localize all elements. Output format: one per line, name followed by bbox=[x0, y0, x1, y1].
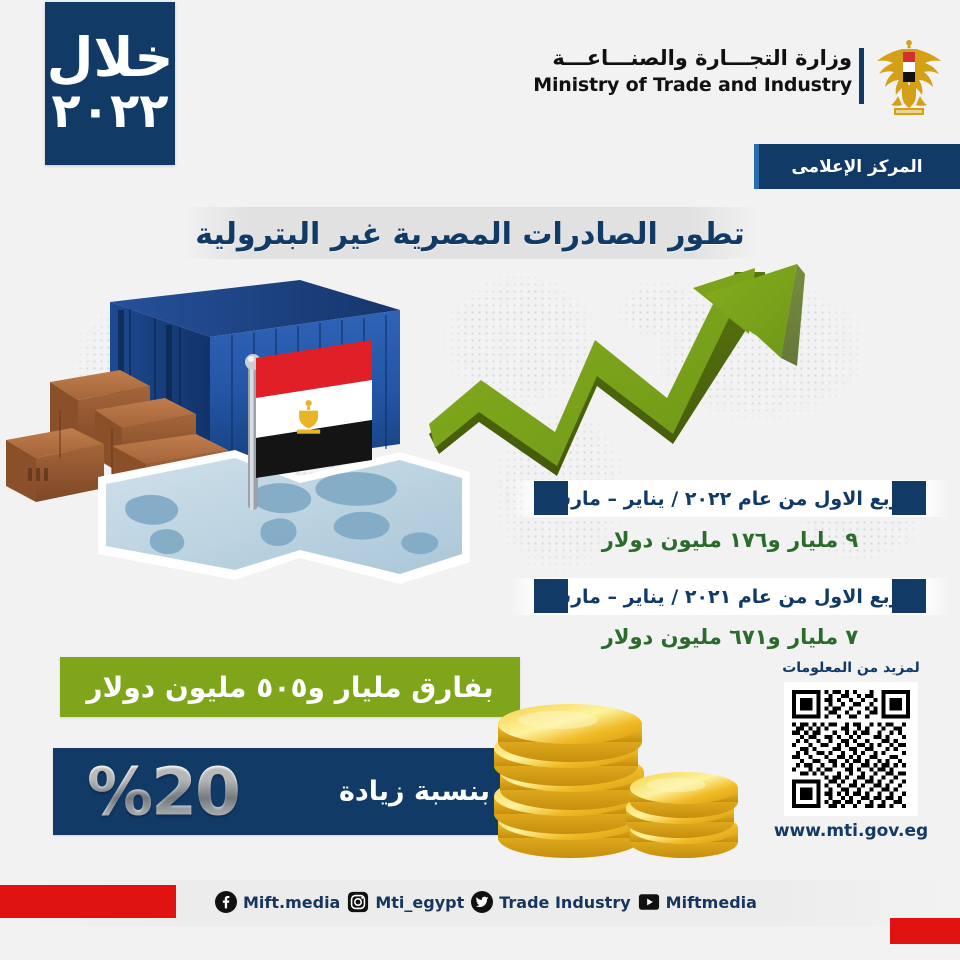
row-marker-right bbox=[892, 481, 926, 515]
youtube-icon bbox=[638, 891, 660, 913]
difference-bar: بفارق مليار و٥٠٥ مليون دولار bbox=[60, 657, 520, 717]
social-instagram-handle: Mti_egypt bbox=[375, 893, 464, 912]
egypt-eagle-emblem bbox=[872, 36, 946, 120]
social-instagram[interactable]: Mti_egypt bbox=[347, 891, 464, 913]
row-value: ٩ مليار و١٧٦ مليون دولار bbox=[510, 528, 950, 552]
gold-coins bbox=[478, 690, 740, 865]
year-badge: خلال ٢٠٢٢ bbox=[45, 2, 175, 165]
year-badge-line2: ٢٠٢٢ bbox=[51, 87, 168, 135]
social-twitter-handle: Trade Industry bbox=[499, 893, 630, 912]
table-row: الربع الاول من عام ٢٠٢٢ / يناير – مارس bbox=[510, 480, 950, 517]
row-period-label: الربع الاول من عام ٢٠٢٢ / يناير – مارس bbox=[510, 488, 950, 510]
qr-title: لمزيد من المعلومات bbox=[766, 660, 936, 676]
footer-red-accent-left bbox=[0, 885, 176, 918]
ministry-title-english: Ministry of Trade and Industry bbox=[533, 74, 852, 96]
header-divider bbox=[859, 48, 864, 104]
social-links: Mift.media Mti_egypt Trade Industry Mi bbox=[215, 888, 757, 916]
ministry-title-arabic: وزارة التجـــارة والصنـــاعـــة bbox=[533, 46, 852, 70]
export-illustration bbox=[0, 262, 470, 602]
social-youtube[interactable]: Miftmedia bbox=[638, 891, 757, 913]
social-facebook[interactable]: Mift.media bbox=[215, 891, 340, 913]
growth-percent-label: بنسبة زيادة bbox=[339, 776, 490, 807]
row-marker-right bbox=[892, 579, 926, 613]
qr-section: لمزيد من المعلومات bbox=[766, 660, 936, 865]
media-center-badge[interactable]: المركز الإعلامى bbox=[754, 144, 960, 189]
footer-red-accent-right bbox=[890, 918, 960, 944]
instagram-icon bbox=[347, 891, 369, 913]
facebook-icon bbox=[215, 891, 237, 913]
row-value: ٧ مليار و٦٧١ مليون دولار bbox=[510, 625, 950, 649]
social-twitter[interactable]: Trade Industry bbox=[471, 891, 630, 913]
difference-label: بفارق مليار و٥٠٥ مليون دولار bbox=[86, 671, 493, 704]
website-url[interactable]: www.mti.gov.eg bbox=[766, 821, 936, 841]
row-period-label: الربع الاول من عام ٢٠٢١ / يناير – مارس bbox=[510, 586, 950, 608]
qr-code[interactable] bbox=[784, 682, 918, 816]
infographic-canvas: خلال ٢٠٢٢ وزارة التجـــارة والصنـــاعـــ… bbox=[0, 0, 960, 960]
table-row: الربع الاول من عام ٢٠٢١ / يناير – مارس bbox=[510, 578, 950, 615]
qr-code-image bbox=[792, 690, 910, 808]
row-marker-left bbox=[534, 481, 568, 515]
growth-percent-bar: %20 بنسبة زيادة bbox=[53, 748, 520, 835]
growth-arrow-up bbox=[405, 258, 805, 478]
social-youtube-handle: Miftmedia bbox=[666, 893, 757, 912]
growth-percent-value: %20 bbox=[87, 753, 239, 830]
twitter-icon bbox=[471, 891, 493, 913]
year-badge-line1: خلال bbox=[47, 32, 174, 83]
ministry-title: وزارة التجـــارة والصنـــاعـــة Ministry… bbox=[533, 46, 852, 96]
page-title: تطور الصادرات المصرية غير البترولية bbox=[180, 212, 760, 256]
social-facebook-handle: Mift.media bbox=[243, 893, 340, 912]
media-center-label: المركز الإعلامى bbox=[791, 157, 922, 177]
row-marker-left bbox=[534, 579, 568, 613]
